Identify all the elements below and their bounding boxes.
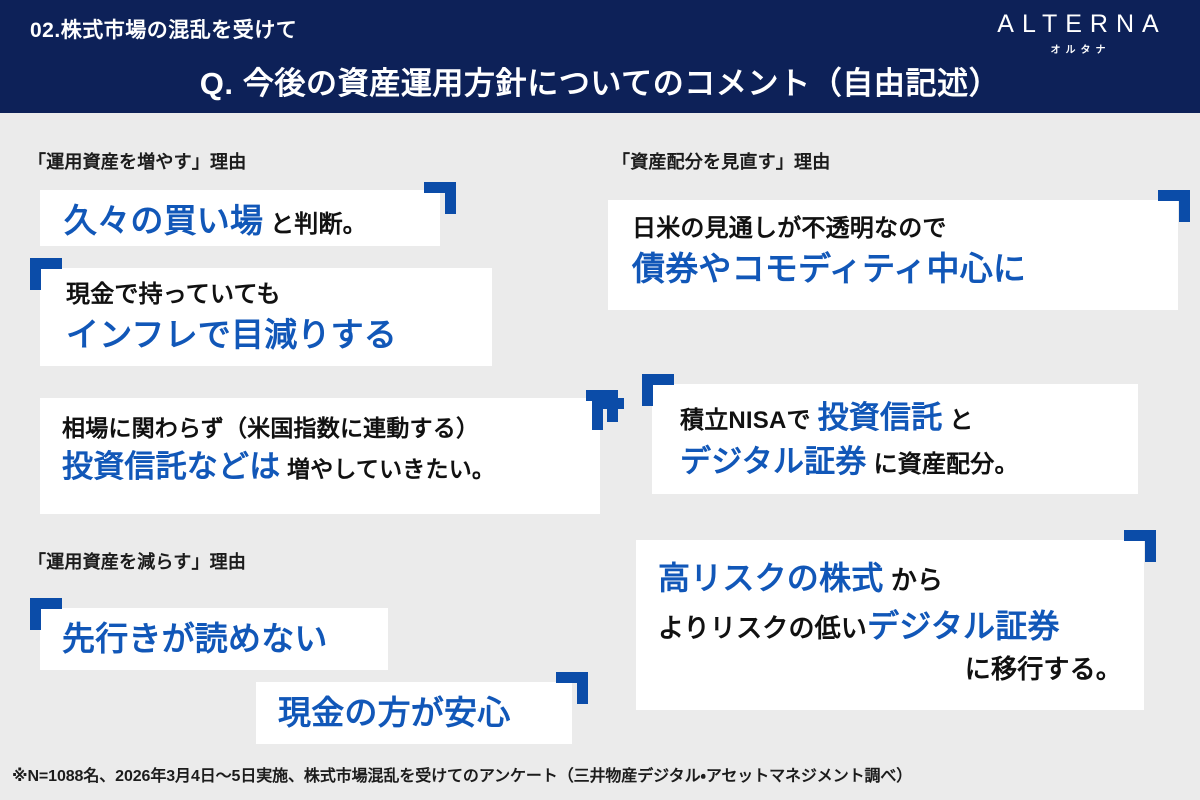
comment-card-2-text: 現金で持っていても インフレで目減りする <box>66 278 397 359</box>
header-eyebrow: 02.株式市場の混乱を受けて <box>30 14 297 44</box>
card-7-line-1-post: と <box>942 407 973 434</box>
card-8-line-2-pre: よりリスクの低い <box>658 613 867 643</box>
card-8-line-1-highlight: 高リスクの株式 <box>658 560 883 596</box>
comment-card-4: 先行きが読めない <box>40 608 388 670</box>
comment-card-1-text: 久々の買い場 と判断。 <box>64 198 367 245</box>
card-8-line-2-highlight: デジタル証券 <box>867 608 1060 644</box>
card-2-line-1: 現金で持っていても <box>66 278 397 312</box>
card-2-line-2: インフレで目減りする <box>66 312 397 359</box>
comment-card-6-text: 日米の見通しが不透明なので 債券やコモディティ中心に <box>632 212 1026 293</box>
bracket-top-right-icon <box>1124 530 1156 562</box>
logo-wordmark: ALTERNA <box>978 12 1178 37</box>
bracket-top-right-icon <box>424 182 456 214</box>
card-6-line-1: 日米の見通しが不透明なので <box>632 212 1026 246</box>
card-3-line-1: 相場に関わらず（米国指数に連動する） <box>62 412 495 445</box>
slide-header: 02.株式市場の混乱を受けて Q. 今後の資産運用方針についてのコメント（自由記… <box>0 0 1200 113</box>
bracket-top-left-icon <box>30 598 62 630</box>
card-7-line-1-highlight: 投資信託 <box>818 400 943 435</box>
card-3-highlight: 投資信託などは <box>62 449 280 484</box>
comment-card-3: 相場に関わらず（米国指数に連動する） 投資信託などは 増やしていきたい。 <box>40 398 600 514</box>
bracket-top-left-icon <box>592 398 624 430</box>
card-5-line-1: 現金の方が安心 <box>278 690 510 737</box>
comment-card-7: 積立NISAで 投資信託 と デジタル証券 に資産配分。 <box>652 384 1138 494</box>
slide-canvas: 02.株式市場の混乱を受けて Q. 今後の資産運用方針についてのコメント（自由記… <box>0 0 1200 800</box>
bracket-top-right-icon <box>556 672 588 704</box>
card-7-line-2-post: に資産配分。 <box>867 451 1019 478</box>
section-label-decrease: 「運用資産を減らす」理由 <box>28 548 246 574</box>
card-1-highlight: 久々の買い場 <box>64 202 263 239</box>
bracket-top-left-icon <box>642 374 674 406</box>
comment-card-8-text: 高リスクの株式 から よりリスクの低いデジタル証券 に移行する。 <box>658 554 1122 689</box>
section-label-increase: 「運用資産を増やす」理由 <box>28 148 246 174</box>
card-3-rest: 増やしていきたい。 <box>280 456 495 482</box>
comment-card-5-text: 現金の方が安心 <box>278 690 510 737</box>
comment-card-7-text: 積立NISAで 投資信託 と デジタル証券 に資産配分。 <box>680 396 1019 484</box>
card-8-line-3: に移行する。 <box>658 650 1122 689</box>
footnote: ※N=1088名、2026年3月4日〜5日実施、株式市場混乱を受けてのアンケート… <box>12 762 912 786</box>
comment-card-2: 現金で持っていても インフレで目減りする <box>40 268 492 366</box>
card-7-line-2-highlight: デジタル証券 <box>680 444 867 479</box>
card-6-line-2: 債券やコモディティ中心に <box>632 246 1026 293</box>
page-title: Q. 今後の資産運用方針についてのコメント（自由記述） <box>0 58 1200 103</box>
comment-card-6: 日米の見通しが不透明なので 債券やコモディティ中心に <box>608 200 1178 310</box>
card-8-line-1-post: から <box>883 565 943 595</box>
alterna-logo: ALTERNA オルタナ <box>978 12 1178 56</box>
card-7-line-1-pre: 積立NISAで <box>680 407 818 434</box>
comment-card-1: 久々の買い場 と判断。 <box>40 190 440 246</box>
card-1-rest: と判断。 <box>263 211 367 238</box>
card-4-line-1: 先行きが読めない <box>62 616 328 663</box>
section-label-rebalance: 「資産配分を見直す」理由 <box>612 148 830 174</box>
bracket-top-right-icon <box>1158 190 1190 222</box>
comment-card-5: 現金の方が安心 <box>256 682 572 744</box>
bracket-top-left-icon <box>30 258 62 290</box>
comment-card-3-text: 相場に関わらず（米国指数に連動する） 投資信託などは 増やしていきたい。 <box>62 412 495 489</box>
logo-subtext: オルタナ <box>978 46 1178 56</box>
comment-card-4-text: 先行きが読めない <box>62 616 328 663</box>
comment-card-8: 高リスクの株式 から よりリスクの低いデジタル証券 に移行する。 <box>636 540 1144 710</box>
